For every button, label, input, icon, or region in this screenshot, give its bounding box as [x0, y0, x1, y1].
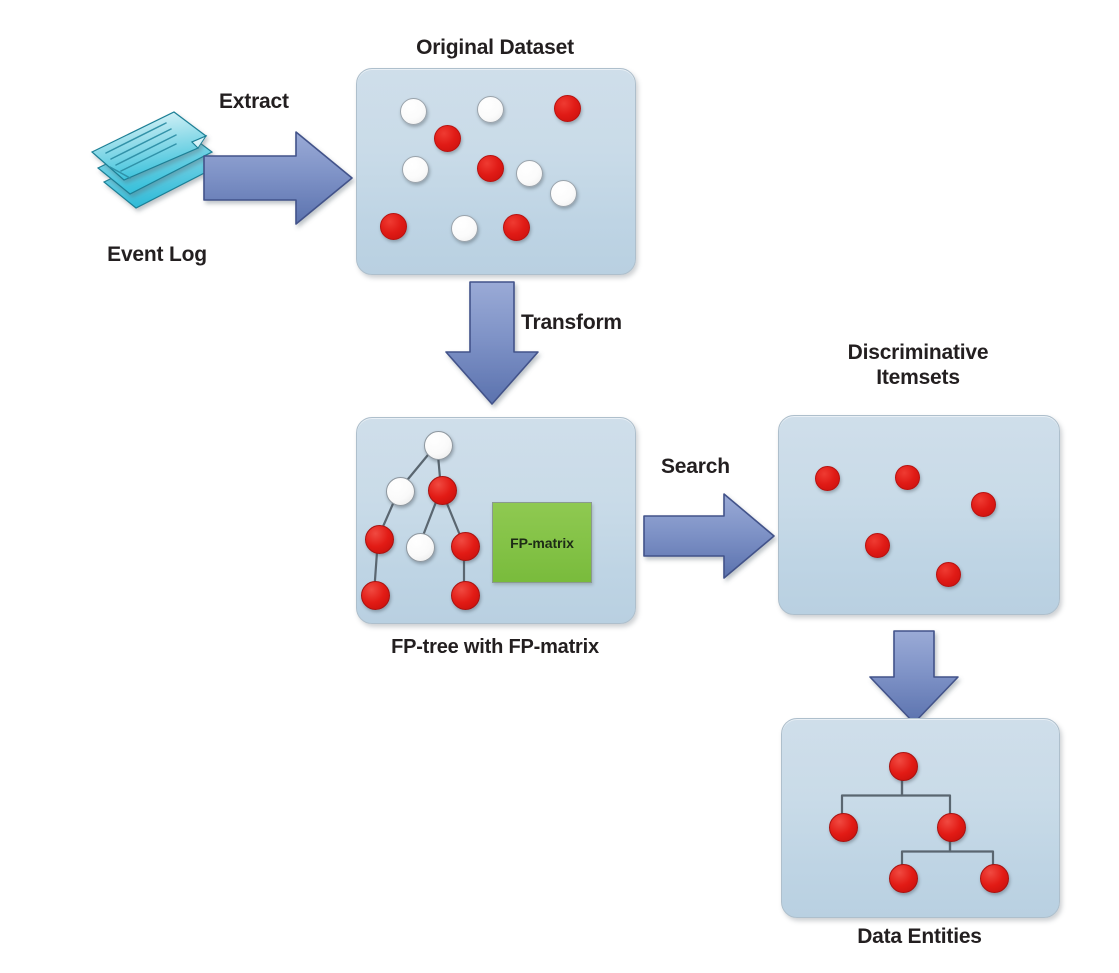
tree-node-n6-red: [361, 581, 390, 610]
tree-node-n5-red: [451, 532, 480, 561]
tree-node-n3-red: [365, 525, 394, 554]
tree-node-e2-red: [937, 813, 966, 842]
tree-node-n1-white: [386, 477, 415, 506]
tree-node-e1-red: [829, 813, 858, 842]
tree-node-e4-red: [980, 864, 1009, 893]
tree-node-n7-red: [451, 581, 480, 610]
tree-node-n2-red: [428, 476, 457, 505]
tree-node-n4-white: [406, 533, 435, 562]
tree-node-n0-white: [424, 431, 453, 460]
tree-node-e3-red: [889, 864, 918, 893]
diagram-canvas: Event Log Extract Original Dataset: [0, 0, 1119, 973]
tree-node-e0-red: [889, 752, 918, 781]
